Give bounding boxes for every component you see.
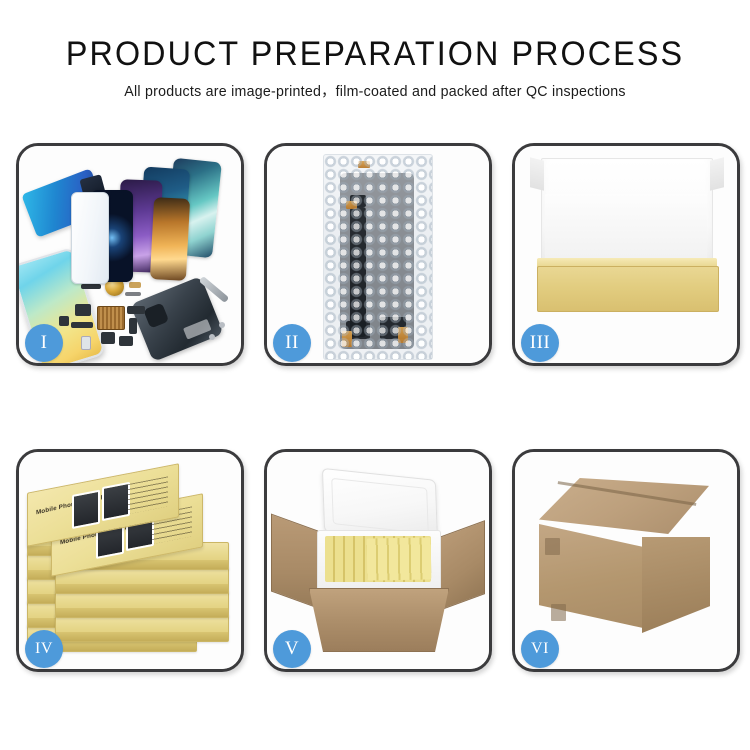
chip-board-icon: [97, 306, 125, 330]
component-part: [101, 332, 115, 344]
step-badge-2: II: [273, 324, 311, 362]
component-part: [59, 316, 69, 326]
bubble-wrap-bag-icon: [323, 154, 433, 360]
process-step-panel-6[interactable]: VI: [512, 449, 740, 672]
page-title: PRODUCT PREPARATION PROCESS: [19, 34, 732, 74]
process-step-panel-4[interactable]: Mobile Phone Spare Parts Mobile Phone Sp…: [16, 449, 244, 672]
component-part: [81, 336, 91, 350]
component-part: [71, 322, 93, 328]
process-step-panel-1[interactable]: I: [16, 143, 244, 366]
component-part: [75, 304, 91, 316]
component-part: [219, 322, 225, 328]
process-steps-grid: I II: [16, 143, 734, 679]
box-window-icon: [102, 482, 130, 521]
tape-icon: [346, 201, 357, 209]
component-part: [129, 318, 137, 334]
process-step-panel-3[interactable]: III: [512, 143, 740, 366]
stacked-box: [55, 614, 229, 642]
box-window-icon: [72, 490, 100, 529]
step-badge-1: I: [25, 324, 63, 362]
page-header: PRODUCT PREPARATION PROCESS All products…: [0, 34, 750, 101]
process-step-panel-2[interactable]: II: [264, 143, 492, 366]
carton-top-face: [539, 478, 709, 534]
step-badge-4: IV: [25, 630, 63, 668]
carton-side-face: [642, 537, 710, 633]
screen-protector-icon: [71, 192, 109, 284]
box-stack-icon: Mobile Phone Spare Parts Mobile Phone Sp…: [25, 472, 233, 658]
component-part: [129, 282, 141, 288]
step-badge-6: VI: [521, 630, 559, 668]
product-preparation-page: PRODUCT PREPARATION PROCESS All products…: [0, 0, 750, 750]
component-part: [119, 336, 133, 346]
kraft-box-body-icon: [537, 266, 719, 312]
component-part: [209, 334, 215, 340]
step-badge-3: III: [521, 324, 559, 362]
box-spec-lines: [128, 476, 168, 514]
phone-orange-icon: [150, 197, 190, 281]
tape-icon: [358, 161, 370, 168]
carton-tab-icon: [545, 538, 560, 555]
packed-boxes-icon: [367, 537, 432, 580]
carton-tab-icon: [551, 604, 566, 621]
component-part: [127, 306, 145, 314]
carton-body-icon: [309, 588, 449, 652]
tape-icon: [398, 327, 408, 343]
process-step-panel-5[interactable]: V: [264, 449, 492, 672]
stacked-box: [55, 590, 229, 618]
step-badge-5: V: [273, 630, 311, 668]
component-part: [125, 292, 141, 296]
component-part: [81, 284, 101, 289]
flex-cable-icon: [350, 207, 366, 337]
tape-icon: [342, 331, 352, 347]
page-subtitle: All products are image-printed，film-coat…: [8, 83, 743, 101]
